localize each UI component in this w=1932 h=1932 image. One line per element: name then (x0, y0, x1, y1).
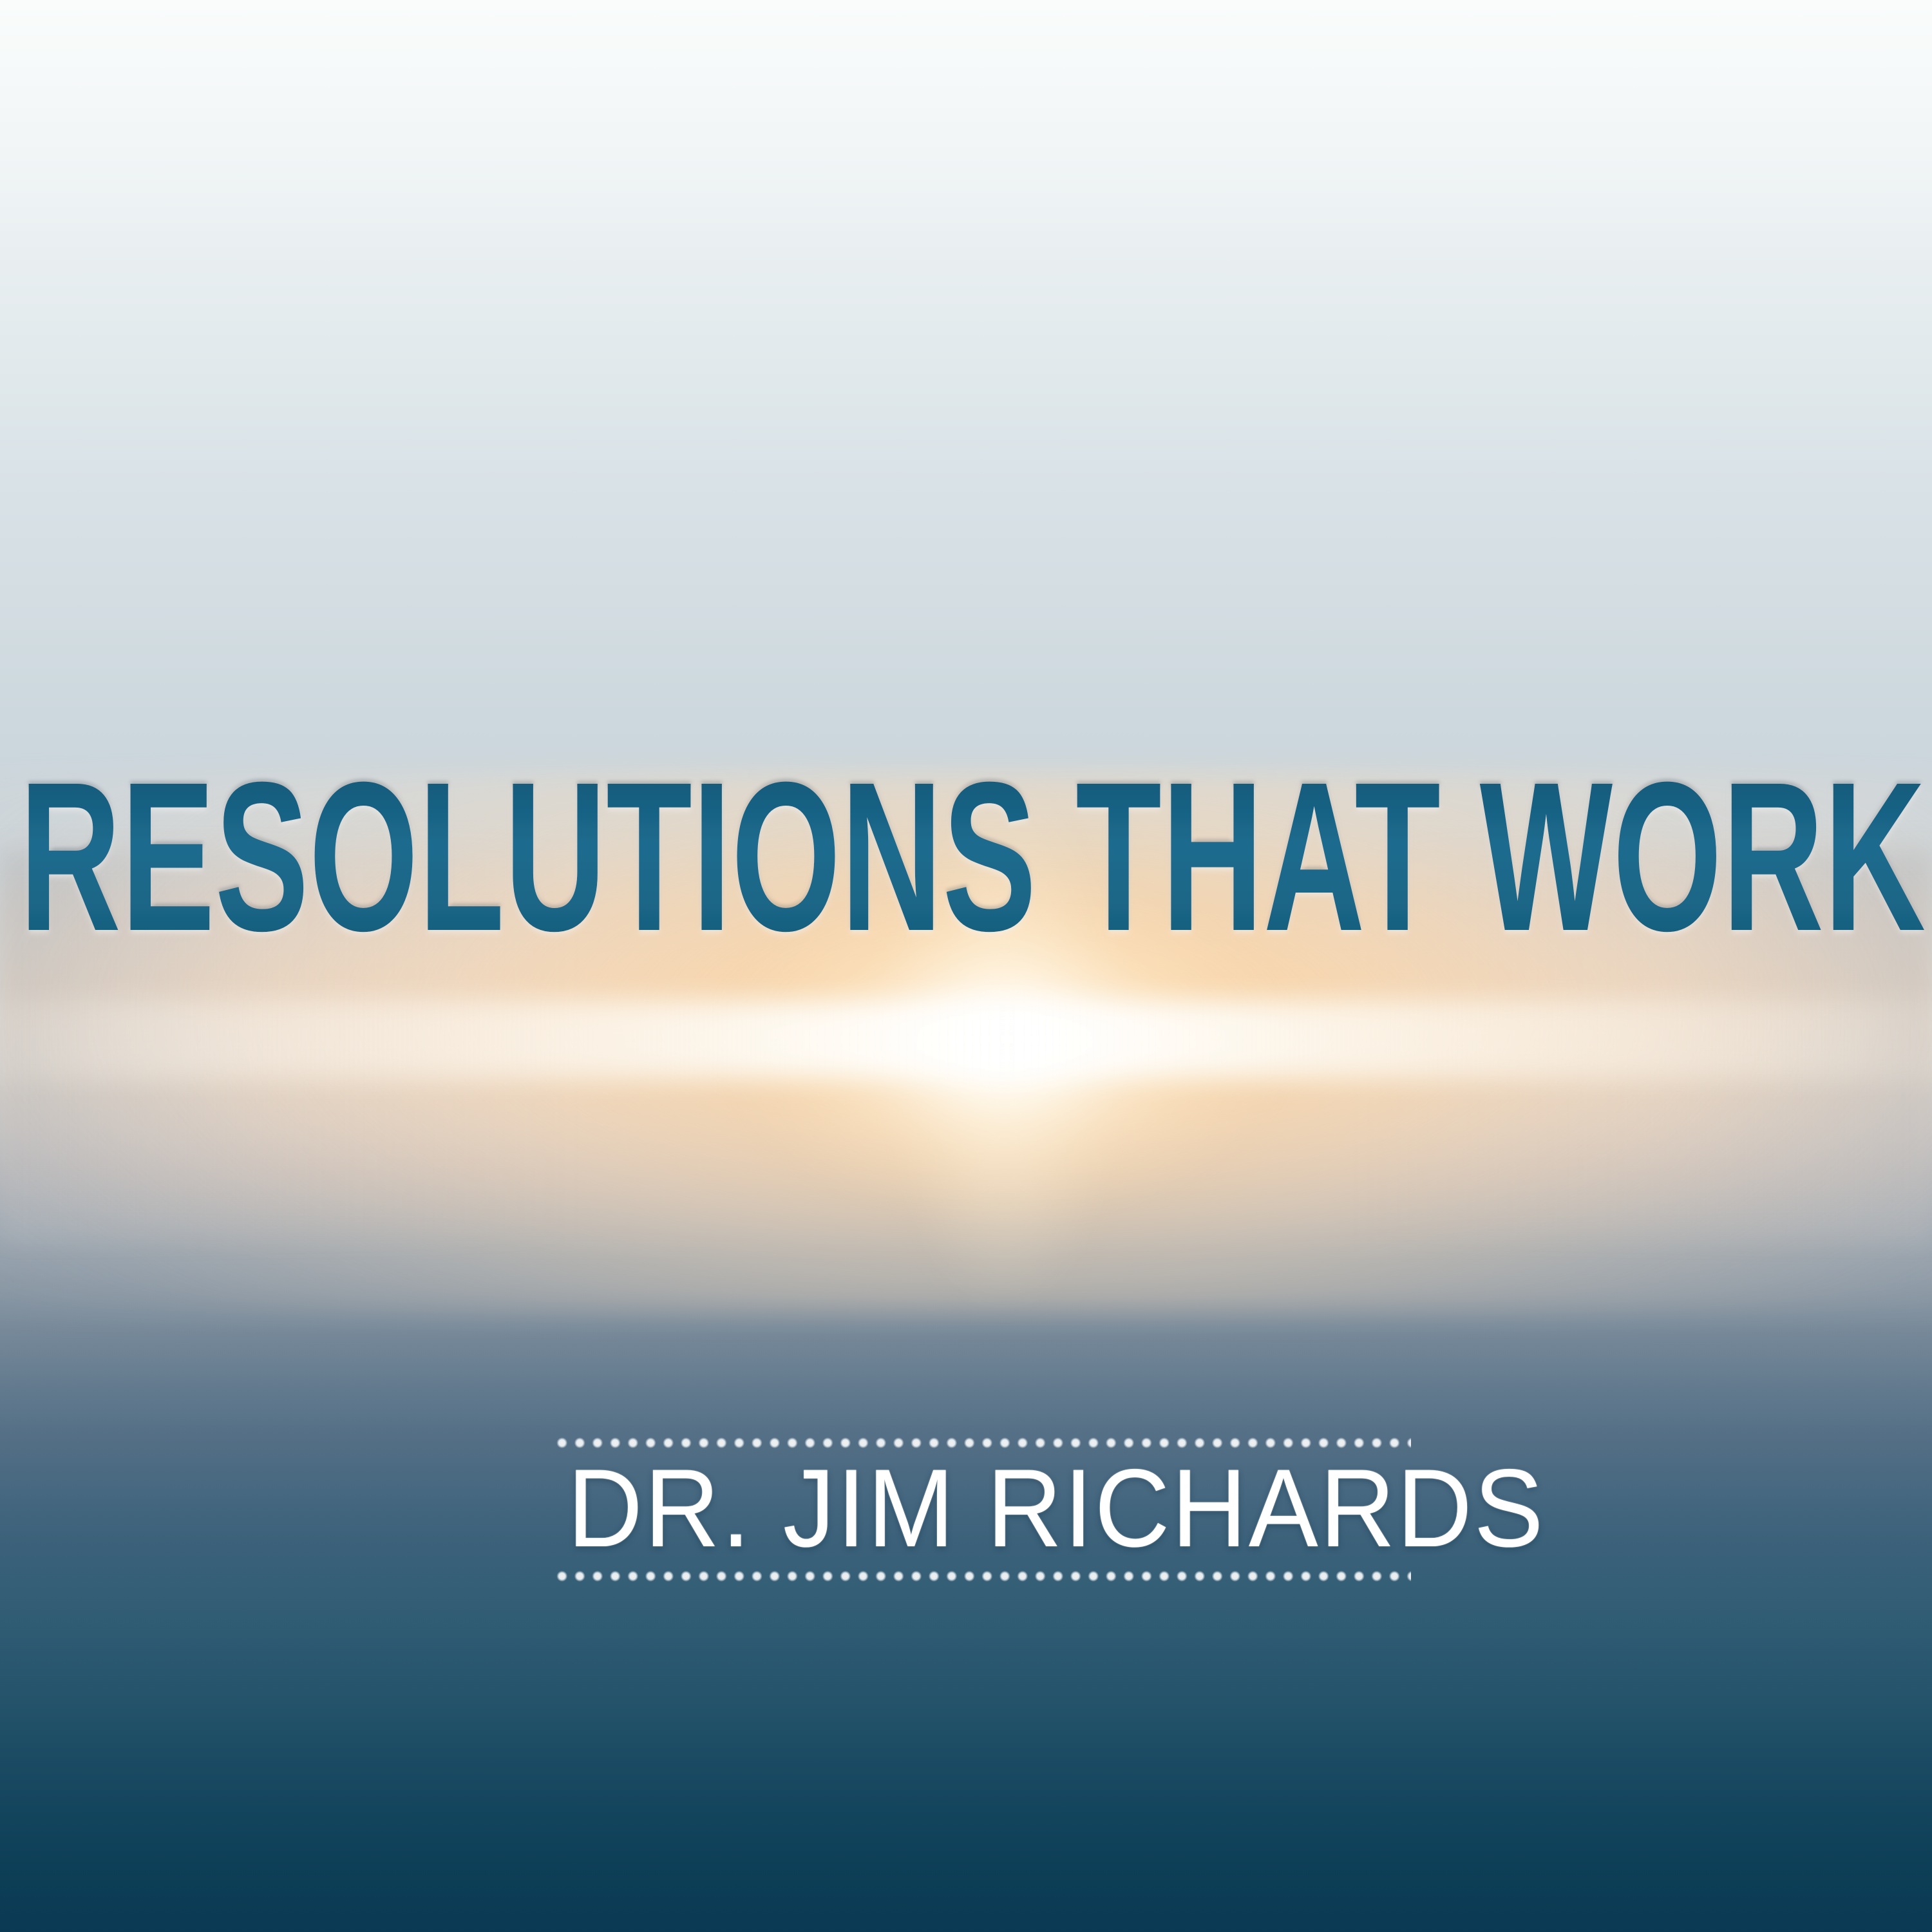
cover-art: RESOLUTIONS THAT WORK DR. JIM RICHARDS (0, 0, 1932, 1932)
title-block: RESOLUTIONS THAT WORK (0, 726, 1932, 945)
sun-flare-streak (0, 1001, 1932, 1078)
dotted-rule-bottom (553, 1571, 1411, 1582)
page-title: RESOLUTIONS THAT WORK (19, 737, 1926, 975)
byline-block: DR. JIM RICHARDS (541, 1437, 1423, 1582)
title-artwork: RESOLUTIONS THAT WORK (0, 726, 1932, 945)
author-name: DR. JIM RICHARDS (567, 1448, 1397, 1571)
